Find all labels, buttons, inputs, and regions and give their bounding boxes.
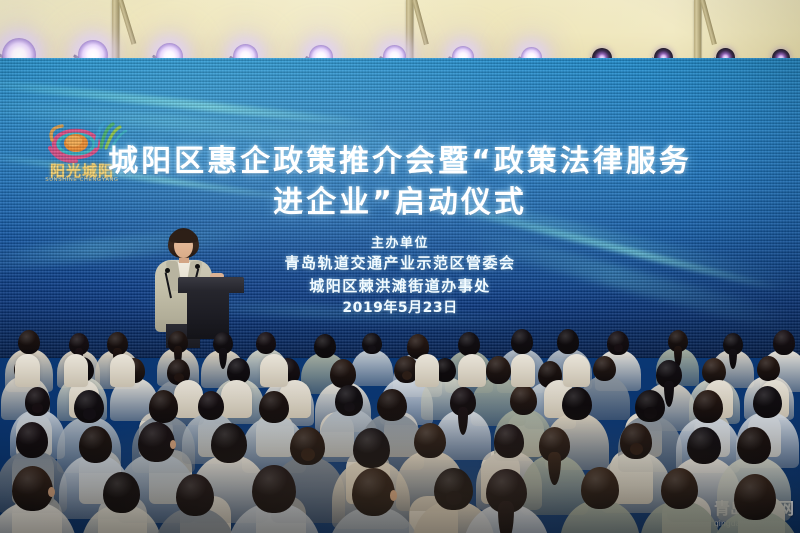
audience-member-hair-bun <box>32 403 43 413</box>
audience-member <box>103 472 140 533</box>
audience-member-head <box>314 334 336 358</box>
audience-member <box>434 468 472 533</box>
audience-member-head <box>661 468 698 509</box>
led-backdrop-screen: 阳光城阳 SUNSHINE CHENGYANG <box>0 58 800 358</box>
event-photo-scene: 阳光城阳 SUNSHINE CHENGYANG 城阳区惠企政策推介会暨“政策法律… <box>0 0 800 533</box>
audience-member-head <box>687 427 721 465</box>
audience-member-head <box>737 427 771 465</box>
audience-chair <box>221 380 252 418</box>
audience-chair <box>64 354 88 387</box>
audience-member <box>362 333 381 388</box>
audience-member <box>581 467 619 533</box>
sunshine-chengyang-logo: 阳光城阳 SUNSHINE CHENGYANG <box>22 120 142 192</box>
audience-member <box>259 391 289 476</box>
audience-member-head <box>511 329 534 354</box>
audience-member-head <box>581 467 619 508</box>
audience-member-hair-bun <box>301 448 315 461</box>
tent-support-post <box>694 0 701 62</box>
audience-member-head <box>734 474 776 520</box>
audience-chair <box>415 354 439 387</box>
logo-name-en: SUNSHINE CHENGYANG <box>22 177 142 183</box>
audience-member-head <box>252 465 296 513</box>
audience-member <box>138 422 174 526</box>
audience-member <box>486 469 527 533</box>
tent-support-post <box>406 0 413 62</box>
audience-seating-area <box>0 320 800 533</box>
audience-member <box>539 427 570 516</box>
audience-member-head <box>693 390 723 423</box>
audience-member-head <box>352 468 396 516</box>
audience-chair <box>511 354 535 387</box>
audience-member-head <box>353 428 389 468</box>
screen-ribbon <box>0 223 259 274</box>
audience-member-hair-bun <box>368 345 376 352</box>
audience-member-hair-bun <box>644 407 656 418</box>
audience-chair <box>110 354 135 387</box>
audience-member-torso <box>351 350 392 387</box>
logo-emblem-icon <box>22 120 142 164</box>
audience-member-head <box>757 356 780 381</box>
audience-member <box>176 474 214 533</box>
audience-member <box>211 423 247 525</box>
audience-member <box>12 466 53 533</box>
audience-member <box>593 356 616 422</box>
speaker-fringe <box>169 230 198 243</box>
audience-member-head <box>414 423 446 458</box>
audience-chair <box>15 354 40 387</box>
audience-member-head <box>486 356 511 384</box>
audience-member-head <box>377 389 406 421</box>
audience-member-head <box>494 424 525 458</box>
audience-member-ponytail <box>498 501 514 533</box>
audience-member-head <box>458 332 480 356</box>
audience-member-head <box>103 472 140 513</box>
audience-member-head <box>18 330 40 355</box>
audience-chair <box>563 354 590 387</box>
audience-member <box>620 423 653 516</box>
audience-member-head <box>562 387 592 420</box>
audience-member-head <box>176 474 214 516</box>
audience-member <box>450 387 476 462</box>
audience-member-head <box>198 391 224 420</box>
audience-member-hair-bun <box>630 443 644 455</box>
audience-member-head <box>211 423 247 462</box>
audience-member <box>352 468 396 533</box>
audience-member-head <box>330 359 356 388</box>
audience-member <box>734 474 776 533</box>
audience-chair <box>260 354 288 387</box>
audience-member-head <box>149 390 179 423</box>
audience-member-head <box>16 422 48 458</box>
audience-member-head <box>256 332 276 354</box>
audience-member-head <box>557 329 579 353</box>
audience-member-ear <box>170 440 176 449</box>
audience-member <box>661 468 698 533</box>
audience-member-head <box>510 385 537 415</box>
audience-member-head <box>138 422 174 462</box>
audience-chair <box>458 354 486 387</box>
tent-support-post <box>112 0 119 62</box>
audience-member-head <box>773 330 795 354</box>
audience-member-head <box>79 426 113 463</box>
audience-member <box>252 465 296 533</box>
audience-member-head <box>12 466 53 512</box>
audience-member-head <box>259 391 289 424</box>
microphone-icon <box>165 268 170 273</box>
audience-member-head <box>593 356 616 382</box>
audience-member-head <box>753 386 783 419</box>
audience-member-ear <box>48 487 55 497</box>
microphone-icon <box>195 264 200 269</box>
audience-member-hair-bun <box>83 408 96 419</box>
